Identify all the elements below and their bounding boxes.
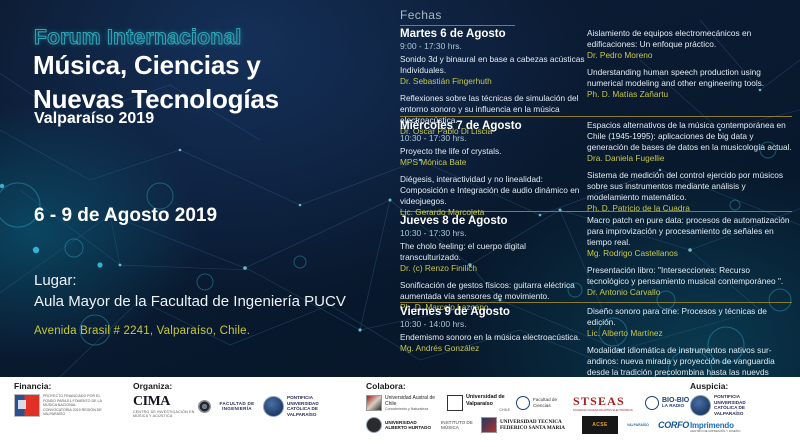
talk-title: Endemismo sonoro en la música electroacú… bbox=[400, 332, 585, 343]
logo-caption-sub: CENTRO DE IMPRESIÓN Y DISEÑO bbox=[690, 430, 752, 434]
bio-bio-la-radio-logo: BIO-BIO LA RADIO bbox=[645, 396, 689, 410]
logo-caption: FACULTAD DE INGENIERÍA bbox=[217, 401, 257, 412]
sponsor-bar: Financia: PROYECTO FINANCIADO POR EL FON… bbox=[0, 377, 800, 447]
talk-item: Sistema de medición del control ejercido… bbox=[587, 170, 792, 214]
talk-title: Sonido 3d y binaural en base a cabezas a… bbox=[400, 54, 585, 76]
imprimendo-logo: Imprimendo CENTRO DE IMPRESIÓN Y DISEÑO bbox=[690, 421, 752, 434]
sponsor-group-auspicia: Auspicia: PONTIFICIA UNIVERSIDAD CATÓLIC… bbox=[690, 381, 766, 434]
talk-speaker: Ph. D. Patricio de la Cuadra bbox=[587, 203, 792, 214]
talk-speaker: Mg. Andrés González bbox=[400, 343, 585, 354]
logo-caption: Facultad de Ciencias bbox=[533, 397, 567, 408]
talk-title: Sonificación de gestos físicos: guitarra… bbox=[400, 280, 585, 302]
acse-logo: ACSE bbox=[582, 416, 618, 434]
talk-item: The cholo feeling: el cuerpo digital tra… bbox=[400, 241, 585, 274]
facultad-de-ciencias-logo: Facultad de Ciencias bbox=[516, 396, 567, 410]
talk-title: Presentación libro: "Intersecciones: Rec… bbox=[587, 265, 792, 287]
cima-logo: CIMA CENTRO DE INVESTIGACIÓN EN MÚSICA Y… bbox=[133, 394, 211, 419]
talk-item: Diseño sonoro para cine: Procesos y técn… bbox=[587, 306, 792, 339]
universidad-tecnica-federico-santa-maria-logo: UNIVERSIDAD TECNICA FEDERICO SANTA MARIA bbox=[481, 417, 576, 433]
instituto-de-musica-logo: INSTITUTO DE MÚSICA bbox=[441, 420, 475, 431]
talk-speaker: Ph. D. Matías Zañartu bbox=[587, 89, 792, 100]
talk-speaker: Lic. Alberto Martínez bbox=[587, 328, 792, 339]
logo-caption: PONTIFICIA UNIVERSIDAD CATÓLICA DE VALPA… bbox=[287, 395, 339, 418]
logo-row-top: Universidad Austral de Chile Conocimient… bbox=[366, 394, 689, 412]
day-time: 10:30 - 17:30 hrs. bbox=[400, 228, 585, 238]
talk-item: Diégesis, interactividad y no linealidad… bbox=[400, 174, 585, 218]
logo-wordmark: ACSE bbox=[592, 422, 608, 428]
day-time: 9:00 - 17:30 hrs. bbox=[400, 41, 585, 51]
logo-caption: UNIVERSIDAD ALBERTO HURTADO bbox=[385, 420, 435, 431]
talk-title: Diégesis, interactividad y no linealidad… bbox=[400, 174, 585, 207]
talk-title: Diseño sonoro para cine: Procesos y técn… bbox=[587, 306, 792, 328]
pucv-logo: PONTIFICIA UNIVERSIDAD CATÓLICA DE VALPA… bbox=[263, 395, 339, 418]
stseas-logo: STSEAS SOCIEDAD CHILENA DE ARTES ELECTRÓ… bbox=[573, 394, 639, 412]
sponsor-group-colabora: Colabora: Universidad Austral de Chile C… bbox=[366, 381, 689, 434]
poster-title-line-1: Música, Ciencias y bbox=[33, 48, 383, 82]
chile-flag-icon bbox=[14, 394, 40, 417]
schedule-day-block-secondary: Aislamiento de equipos electromecánicos … bbox=[587, 28, 792, 106]
talk-speaker: Dr. Antonio Carvallo bbox=[587, 287, 792, 298]
logo-row-bottom: UNIVERSIDAD ALBERTO HURTADO INSTITUTO DE… bbox=[366, 416, 689, 434]
logo-row: PROYECTO FINANCIADO POR EL FONDO PARA EL… bbox=[14, 394, 105, 417]
logo-row-bottom: Imprimendo CENTRO DE IMPRESIÓN Y DISEÑO bbox=[690, 421, 766, 434]
talk-title: Espacios alternativos de la música conte… bbox=[587, 120, 792, 153]
poster-title: Música, Ciencias y Nuevas Tecnologías bbox=[33, 48, 383, 117]
schedule-day-block: Miércoles 7 de Agosto 10:30 - 17:30 hrs.… bbox=[400, 120, 585, 224]
poster-kicker: Forum Internacional bbox=[34, 26, 242, 50]
logo-caption: Universidad de Valparaíso bbox=[466, 394, 510, 408]
talk-item: Aislamiento de equipos electromecánicos … bbox=[587, 28, 792, 61]
venue-address: Avenida Brasil # 2241, Valparaíso, Chile… bbox=[34, 325, 250, 337]
facultad-de-ingenieria-logo: FACULTAD DE INGENIERÍA bbox=[217, 401, 257, 412]
molecule-icon bbox=[516, 396, 530, 410]
universidad-alberto-hurtado-logo: UNIVERSIDAD ALBERTO HURTADO bbox=[366, 417, 435, 433]
speaker-disc-icon bbox=[198, 400, 211, 413]
schedule-panel: Fechas Martes 6 de Agosto 9:00 - 17:30 h… bbox=[392, 0, 800, 377]
radio-wave-icon bbox=[645, 396, 659, 410]
logo-caption-sub: Conocimiento y Naturaleza bbox=[385, 407, 441, 411]
talk-title: Aislamiento de equipos electromecánicos … bbox=[587, 28, 792, 50]
talk-title: Proyecto the life of crystals. bbox=[400, 146, 585, 157]
sponsor-label: Organiza: bbox=[133, 381, 339, 391]
poster-canvas: Forum Internacional Música, Ciencias y N… bbox=[0, 0, 800, 447]
logo-caption: PONTIFICIA UNIVERSIDAD CATÓLICA DE VALPA… bbox=[714, 394, 766, 417]
sponsor-label: Colabora: bbox=[366, 381, 689, 391]
universidad-austral-de-chile-logo: Universidad Austral de Chile Conocimient… bbox=[366, 395, 441, 412]
talk-item: Proyecto the life of crystals. MPS Mónic… bbox=[400, 146, 585, 168]
day-time: 10:30 - 17:30 hrs. bbox=[400, 133, 585, 143]
pucv-crest-icon bbox=[690, 395, 711, 416]
day-name: Jueves 8 de Agosto bbox=[400, 215, 585, 227]
day-name: Miércoles 7 de Agosto bbox=[400, 120, 585, 132]
talk-speaker: Dr. Pedro Moreno bbox=[587, 50, 792, 61]
day-name: Martes 6 de Agosto bbox=[400, 28, 585, 40]
talk-speaker: Dr. (c) Renzo Finilich bbox=[400, 263, 585, 274]
logo-caption: VALPARAÍSO bbox=[624, 423, 652, 427]
logo-caption: PROYECTO FINANCIADO POR EL FONDO PARA EL… bbox=[43, 394, 105, 416]
logo-caption: Universidad Austral de Chile bbox=[385, 395, 441, 408]
schedule-day-block-secondary: Espacios alternativos de la música conte… bbox=[587, 120, 792, 220]
logo-caption-sub: CHILE bbox=[466, 408, 510, 412]
talk-title: Understanding human speech production us… bbox=[587, 67, 792, 89]
logo-row: CIMA CENTRO DE INVESTIGACIÓN EN MÚSICA Y… bbox=[133, 394, 339, 419]
logo-wordmark: CORFO bbox=[658, 420, 689, 430]
venue-name: Aula Mayor de la Facultad de Ingeniería … bbox=[34, 293, 346, 310]
gobierno-de-chile-logo: PROYECTO FINANCIADO POR EL FONDO PARA EL… bbox=[14, 394, 105, 417]
pucv-crest-icon bbox=[263, 396, 284, 417]
valparaiso-logo: VALPARAÍSO bbox=[624, 423, 652, 427]
talk-speaker: Dr. Sebastián Fingerhuth bbox=[400, 76, 585, 87]
talk-title: Sistema de medición del control ejercido… bbox=[587, 170, 792, 203]
talk-title: The cholo feeling: el cuerpo digital tra… bbox=[400, 241, 585, 263]
talk-item: Espacios alternativos de la música conte… bbox=[587, 120, 792, 164]
schedule-day-block-secondary: Macro patch en pure data: procesos de au… bbox=[587, 215, 792, 304]
talk-title: Macro patch en pure data: procesos de au… bbox=[587, 215, 792, 248]
talk-item: Understanding human speech production us… bbox=[587, 67, 792, 100]
logo-caption-sub: LA RADIO bbox=[662, 404, 689, 409]
usm-crest-icon bbox=[481, 417, 497, 433]
corfo-logo: CORFO bbox=[658, 420, 689, 430]
schedule-heading: Fechas bbox=[400, 8, 442, 22]
uah-crest-icon bbox=[366, 417, 382, 433]
logo-caption: CENTRO DE INVESTIGACIÓN EN MÚSICA Y ACÚS… bbox=[133, 410, 195, 419]
sponsor-group-financia: Financia: PROYECTO FINANCIADO POR EL FON… bbox=[14, 381, 105, 417]
logo-wordmark: CIMA bbox=[133, 394, 195, 410]
talk-item: Endemismo sonoro en la música electroacú… bbox=[400, 332, 585, 354]
logo-wordmark: STSEAS bbox=[573, 394, 639, 409]
poster-left-panel: Forum Internacional Música, Ciencias y N… bbox=[0, 0, 392, 377]
divider-heading bbox=[400, 25, 515, 26]
day-name: Viernes 9 de Agosto bbox=[400, 306, 585, 318]
uach-crest-icon bbox=[366, 395, 382, 411]
talk-item: Sonido 3d y binaural en base a cabezas a… bbox=[400, 54, 585, 87]
talk-item: Presentación libro: "Intersecciones: Rec… bbox=[587, 265, 792, 298]
pucv-crest-logo: PONTIFICIA UNIVERSIDAD CATÓLICA DE VALPA… bbox=[690, 394, 766, 417]
logo-row-top: PONTIFICIA UNIVERSIDAD CATÓLICA DE VALPA… bbox=[690, 394, 766, 417]
talk-speaker: MPS Mónica Bate bbox=[400, 157, 585, 168]
logo-caption: UNIVERSIDAD TECNICA FEDERICO SANTA MARIA bbox=[500, 419, 576, 432]
talk-item: Macro patch en pure data: procesos de au… bbox=[587, 215, 792, 259]
sponsor-label: Auspicia: bbox=[690, 381, 766, 391]
sponsor-label: Financia: bbox=[14, 381, 105, 391]
poster-dates: 6 - 9 de Agosto 2019 bbox=[34, 205, 217, 227]
day-time: 10:30 - 14:00 hrs. bbox=[400, 319, 585, 329]
talk-speaker: Dra. Daniela Fugellie bbox=[587, 153, 792, 164]
talk-speaker: Mg. Rodrigo Castellanos bbox=[587, 248, 792, 259]
schedule-day-block: Jueves 8 de Agosto 10:30 - 17:30 hrs. Th… bbox=[400, 215, 585, 319]
poster-subtitle: Valparaíso 2019 bbox=[34, 110, 154, 128]
universidad-de-valparaiso-logo: Universidad de Valparaíso CHILE bbox=[447, 394, 510, 412]
uv-crest-icon bbox=[447, 395, 463, 411]
logo-caption: INSTITUTO DE MÚSICA bbox=[441, 420, 475, 431]
logo-caption-sub: SOCIEDAD CHILENA DE ARTES ELECTRÓNICAS bbox=[573, 409, 639, 412]
venue-label: Lugar: bbox=[34, 272, 77, 289]
schedule-day-block: Viernes 9 de Agosto 10:30 - 14:00 hrs. E… bbox=[400, 306, 585, 360]
sponsor-group-organiza: Organiza: CIMA CENTRO DE INVESTIGACIÓN E… bbox=[133, 381, 339, 419]
